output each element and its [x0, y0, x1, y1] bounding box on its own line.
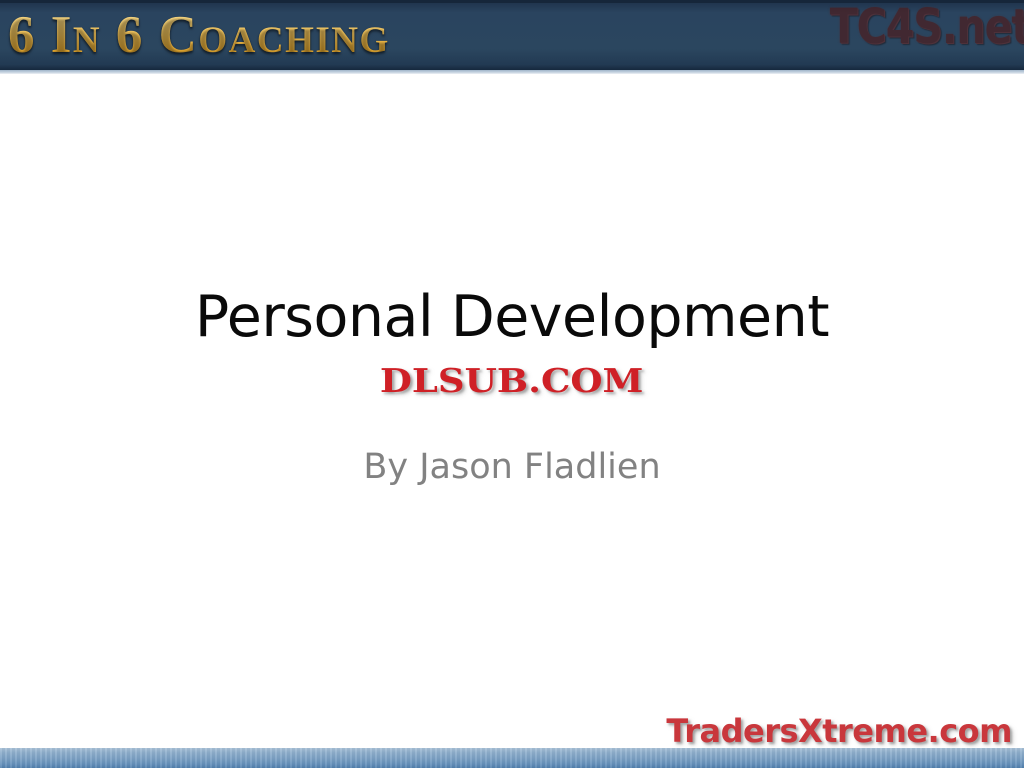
footer-bar	[0, 748, 1024, 768]
slide-subtitle-author: By Jason Fladlien	[0, 446, 1024, 488]
tc4s-watermark: TC4S.net	[830, 0, 1024, 55]
dlsub-watermark-text: DLSUB.COM	[380, 362, 644, 400]
slide-title: Personal Development	[0, 284, 1024, 350]
brand-logo-6-in-6-coaching: 6 In 6 Coaching	[8, 4, 390, 66]
tradersxtreme-logo: TradersXtreme.com	[666, 711, 1012, 751]
slide-content-area: Personal Development DLSUB.COM By Jason …	[0, 74, 1024, 748]
header-banner: 6 In 6 Coaching TC4S.net	[0, 0, 1024, 70]
dlsub-watermark: DLSUB.COM	[0, 362, 1024, 400]
presentation-slide: 6 In 6 Coaching TC4S.net Personal Develo…	[0, 0, 1024, 768]
